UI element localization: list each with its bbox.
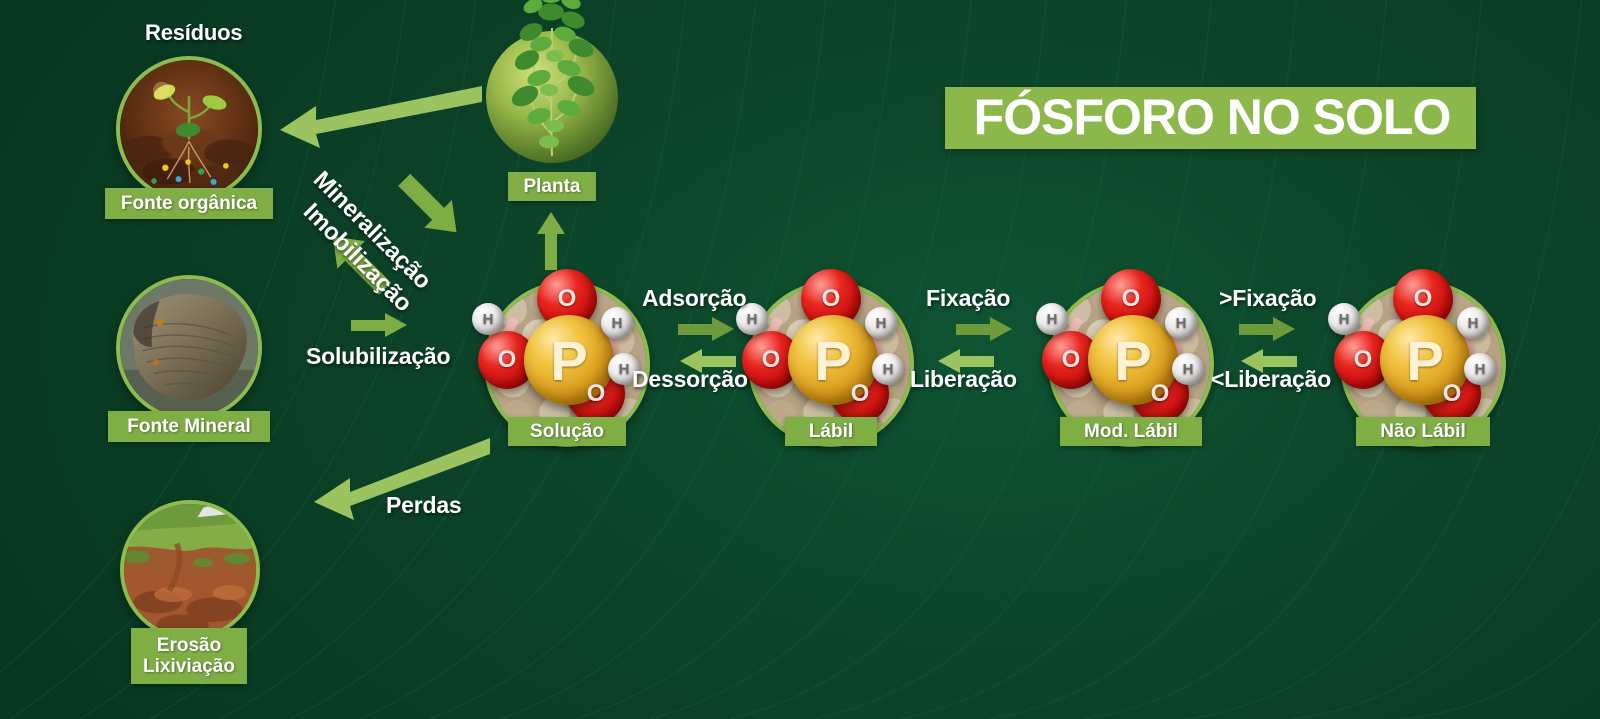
node-planta[interactable]: Planta [485, 30, 619, 164]
planta-image [485, 30, 619, 164]
node-fonte-mineral[interactable]: Fonte Mineral [116, 275, 262, 421]
atom-hydrogen-lower-right: H [1464, 353, 1496, 385]
badge-line: Erosão [157, 635, 221, 656]
atom-label: H [1468, 315, 1479, 332]
atom-label: O [1414, 285, 1433, 313]
arrow-fixacao-maior [1239, 316, 1297, 342]
atom-label: H [612, 315, 623, 332]
atom-label: P [1114, 328, 1151, 393]
atom-label: O [762, 346, 781, 374]
atom-hydrogen-left: H [472, 303, 504, 335]
atom-label: O [851, 380, 870, 408]
label-fixacao-maior: >Fixação [1219, 285, 1317, 312]
badge-line: Lixiviação [143, 656, 235, 677]
node-erosao-lixiviacao[interactable]: Erosão Lixiviação [120, 500, 260, 640]
badge-line: Planta [523, 176, 580, 197]
label-perdas: Perdas [386, 492, 462, 519]
label-dessorcao: Dessorção [632, 366, 748, 393]
fonte-mineral-image [116, 275, 262, 421]
residuos-label: Resíduos [145, 20, 242, 46]
atom-hydrogen-lower-right: H [872, 353, 904, 385]
badge-fonte-organica: Fonte orgânica [105, 188, 273, 219]
badge-nao-labil: Não Lábil [1356, 417, 1490, 446]
atom-label: H [883, 361, 894, 378]
atom-label: H [747, 311, 758, 328]
fonte-organica-image [116, 56, 262, 202]
label-solubilizacao: Solubilização [306, 343, 450, 370]
badge-mod-labil: Mod. Lábil [1060, 417, 1202, 446]
atom-label: H [1339, 311, 1350, 328]
atom-label: H [1176, 315, 1187, 332]
badge-line: Lábil [809, 421, 853, 442]
atom-label: O [1354, 346, 1373, 374]
atom-label: P [814, 328, 851, 393]
badge-solucao: Solução [508, 417, 626, 446]
badge-labil: Lábil [785, 417, 877, 446]
atom-hydrogen-lower-right: H [1172, 353, 1204, 385]
arrow-to-planta [536, 212, 566, 270]
page-title: FÓSFORO NO SOLO [958, 86, 1466, 148]
atom-hydrogen-right: H [1165, 307, 1197, 339]
label-liberacao: Liberação [910, 366, 1017, 393]
arrow-adsorcao [678, 316, 736, 342]
atom-label: H [483, 311, 494, 328]
atom-label: H [1183, 361, 1194, 378]
atom-label: P [1406, 328, 1443, 393]
atom-hydrogen-left: H [1328, 303, 1360, 335]
badge-line: Não Lábil [1380, 421, 1466, 442]
atom-label: O [1062, 346, 1081, 374]
label-liberacao-menor: <Liberação [1211, 366, 1331, 393]
atom-label: H [1047, 311, 1058, 328]
node-fonte-organica[interactable]: Fonte orgânica [116, 56, 262, 202]
atom-hydrogen-right: H [865, 307, 897, 339]
arrow-fixacao [956, 316, 1014, 342]
badge-planta: Planta [508, 172, 596, 201]
atom-label: O [498, 346, 517, 374]
label-fixacao: Fixação [926, 285, 1010, 312]
atom-hydrogen-left: H [1036, 303, 1068, 335]
atom-label: H [619, 361, 630, 378]
atom-label: O [558, 285, 577, 313]
arrow-to-residuos [276, 76, 482, 164]
atom-label: O [822, 285, 841, 313]
atom-hydrogen-right: H [1457, 307, 1489, 339]
infographic-canvas: FÓSFORO NO SOLO Resíduos [0, 0, 1600, 719]
atom-label: H [876, 315, 887, 332]
badge-erosao-lixiviacao: Erosão Lixiviação [131, 628, 247, 684]
badge-line: Solução [530, 421, 604, 442]
atom-hydrogen-right: H [601, 307, 633, 339]
atom-label: O [1443, 380, 1462, 408]
atom-label: O [587, 380, 606, 408]
badge-fonte-mineral: Fonte Mineral [108, 411, 270, 442]
atom-label: O [1122, 285, 1141, 313]
badge-line: Fonte Mineral [127, 416, 251, 437]
atom-label: O [1151, 380, 1170, 408]
badge-line: Fonte orgânica [121, 193, 257, 214]
badge-line: Mod. Lábil [1084, 421, 1178, 442]
arrow-solubilizacao [351, 311, 409, 339]
atom-label: P [550, 328, 587, 393]
erosao-image [120, 500, 260, 640]
atom-label: H [1475, 361, 1486, 378]
label-adsorcao: Adsorção [642, 285, 746, 312]
